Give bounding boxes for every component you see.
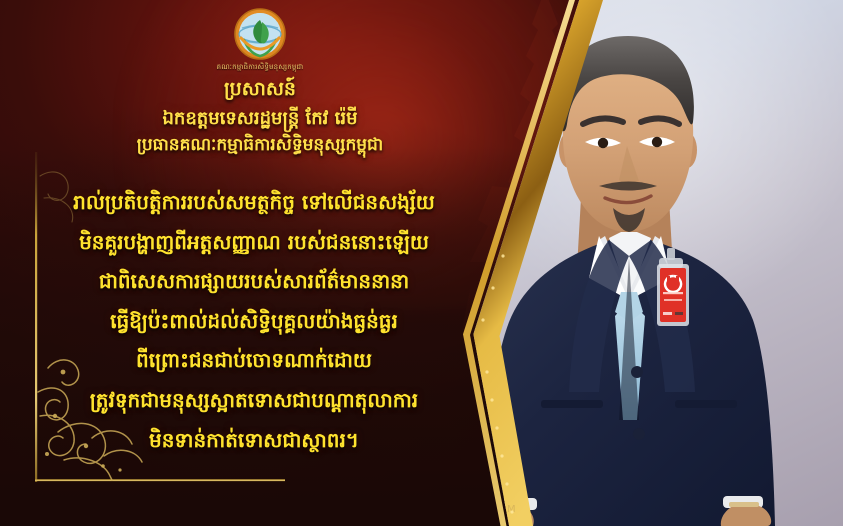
quote-line: ពីព្រោះជនជាប់ចោទណាក់ដោយ (136, 341, 372, 381)
quote-line: រាល់ប្រតិបត្តិការរបស់សមត្ថកិច្ច ទៅលើជនសង… (73, 183, 435, 223)
organization-name: គណៈកម្មាធិការសិទ្ធិមនុស្សកម្ពុជា (217, 63, 304, 73)
card-header: គណៈកម្មាធិការសិទ្ធិមនុស្សកម្ពុជា ប្រសាសន… (0, 6, 520, 158)
quote-card-canvas: M (0, 0, 843, 526)
quote-line: ត្រូវទុកជាមនុស្សស្អាតទោសជាបណ្ដាតុលាការ (90, 381, 418, 421)
quote-line: ធ្វើឱ្យប៉ះពាល់ដល់សិទ្ធិបុគ្គលយ៉ាងធ្ងន់ធ្… (110, 302, 398, 342)
header-subtitle-person: ឯកឧត្តមទេសរដ្ឋមន្ត្រី កែវ រ៉េមី (163, 105, 358, 132)
organization-emblem-icon (232, 6, 288, 62)
quote-block: រាល់ប្រតិបត្តិការរបស់សមត្ថកិច្ច ទៅលើជនសង… (18, 183, 490, 460)
quote-line: មិនទាន់កាត់ទោសជាស្ថាពរ។ (149, 421, 359, 461)
header-title: ប្រសាសន៍ (224, 76, 296, 104)
quote-line: ជាពិសេសការផ្សាយរបស់សារព័ត៌មាននានា (99, 262, 409, 302)
quote-line: មិនគួរបង្ហាញពីអត្តសញ្ញាណ របស់ជននោះឡើយ (79, 223, 429, 263)
header-subtitle-role: ប្រធានគណៈកម្មាធិការសិទ្ធិមនុស្សកម្ពុជា (137, 133, 384, 159)
